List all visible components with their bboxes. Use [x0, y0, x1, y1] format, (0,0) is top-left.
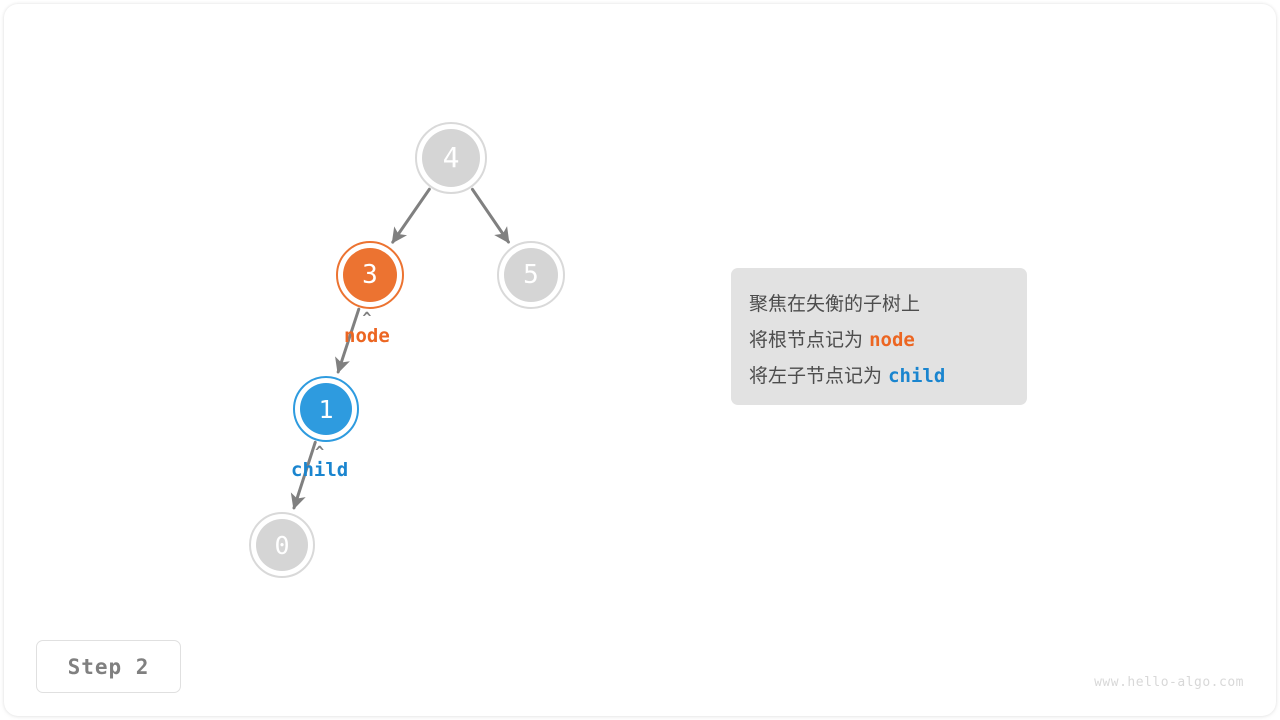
- tree-edges-canvas: [0, 0, 1280, 720]
- tree-node-0: 0: [256, 519, 308, 571]
- description-line-2: 将根节点记为 node: [749, 322, 1027, 358]
- tree-edge-4-to-3: [393, 189, 430, 242]
- description-keyword-node: node: [869, 329, 915, 351]
- node-pointer-label: node: [344, 325, 390, 347]
- description-box: 聚焦在失衡的子树上 将根节点记为 node 将左子节点记为 child: [731, 268, 1027, 405]
- tree-edge-4-to-5: [472, 189, 508, 242]
- description-line-3: 将左子节点记为 child: [749, 358, 1027, 394]
- description-keyword-child: child: [888, 365, 945, 387]
- tree-node-5: 5: [504, 248, 558, 302]
- tree-node-value: 3: [362, 262, 378, 288]
- step-badge: Step 2: [36, 640, 181, 693]
- description-line-2-prefix: 将根节点记为: [749, 329, 863, 351]
- tree-node-value: 0: [274, 533, 289, 558]
- tree-node-1: 1: [300, 383, 352, 435]
- description-line-1: 聚焦在失衡的子树上: [749, 286, 1027, 322]
- description-line-3-prefix: 将左子节点记为: [749, 365, 882, 387]
- child-pointer-label: child: [291, 459, 348, 481]
- child-pointer: ^child: [291, 447, 348, 481]
- step-badge-label: Step 2: [68, 655, 150, 679]
- diagram-page: 43510 ^node^child 聚焦在失衡的子树上 将根节点记为 node …: [0, 0, 1280, 720]
- tree-node-4: 4: [422, 129, 480, 187]
- caret-icon: ^: [344, 313, 390, 323]
- description-line-1-text: 聚焦在失衡的子树上: [749, 293, 920, 315]
- node-pointer: ^node: [344, 313, 390, 347]
- tree-node-value: 1: [318, 397, 333, 422]
- caret-icon: ^: [291, 447, 348, 457]
- watermark: www.hello-algo.com: [1094, 675, 1244, 690]
- tree-node-value: 4: [443, 144, 460, 172]
- tree-node-3: 3: [343, 248, 397, 302]
- tree-node-value: 5: [523, 262, 539, 288]
